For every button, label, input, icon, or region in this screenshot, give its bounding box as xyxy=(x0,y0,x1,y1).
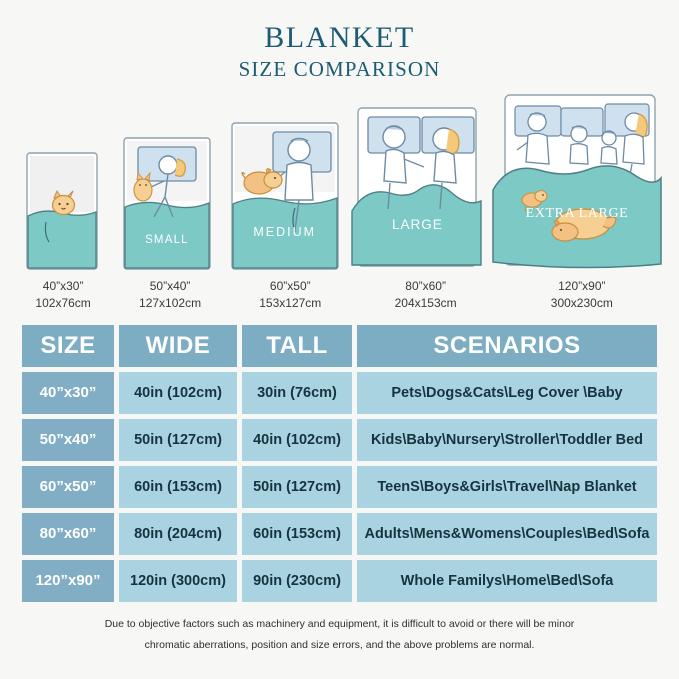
dim-inches-xsmall: 40”x30” xyxy=(12,278,114,294)
cell-wide: 120in (300cm) xyxy=(119,560,237,602)
dimension-caption-small: 50”x40” 127x102cm xyxy=(114,278,226,310)
bed-xlarge: EXTRA LARGE xyxy=(487,92,667,272)
cell-size: 60”x50” xyxy=(22,466,114,508)
illustration-small: SMALL xyxy=(112,135,221,272)
dim-inches-large: 80”x60” xyxy=(355,278,497,294)
cell-wide: 80in (204cm) xyxy=(119,513,237,555)
bed-large: LARGE xyxy=(350,105,484,272)
dim-inches-small: 50”x40” xyxy=(114,278,226,294)
cell-tall: 30in (76cm) xyxy=(242,372,352,414)
table-header-scenarios: SCENARIOS xyxy=(357,325,657,367)
cell-tall: 50in (127cm) xyxy=(242,466,352,508)
bed-small: SMALL xyxy=(121,135,213,272)
cell-tall: 60in (153cm) xyxy=(242,513,352,555)
cell-tall: 90in (230cm) xyxy=(242,560,352,602)
cell-scenarios: Adults\Mens&Womens\Couples\Bed\Sofa xyxy=(357,513,657,555)
cell-wide: 40in (102cm) xyxy=(119,372,237,414)
illustration-xlarge: EXTRA LARGE xyxy=(487,92,667,272)
dim-cm-xlarge: 300x230cm xyxy=(497,295,667,311)
dimension-captions: 40”x30” 102x76cm 50”x40” 127x102cm 60”x5… xyxy=(12,278,667,310)
dim-cm-small: 127x102cm xyxy=(114,295,226,311)
cell-scenarios: TeenS\Boys&Girls\Travel\Nap Blanket xyxy=(357,466,657,508)
title-subtitle: SIZE COMPARISON xyxy=(0,57,679,82)
dimension-caption-xlarge: 120”x90” 300x230cm xyxy=(497,278,667,310)
illustration-xsmall xyxy=(12,150,112,272)
dim-inches-xlarge: 120”x90” xyxy=(497,278,667,294)
table-header-wide: WIDE xyxy=(119,325,237,367)
cell-scenarios: Pets\Dogs&Cats\Leg Cover \Baby xyxy=(357,372,657,414)
size-table: SIZE WIDE TALL SCENARIOS 40”x30” 40in (1… xyxy=(22,325,657,602)
dim-cm-xsmall: 102x76cm xyxy=(12,295,114,311)
infographic-page: BLANKET SIZE COMPARISON xyxy=(0,0,679,679)
page-title: BLANKET SIZE COMPARISON xyxy=(0,0,679,82)
dim-cm-large: 204x153cm xyxy=(355,295,497,311)
cell-size: 120”x90” xyxy=(22,560,114,602)
dim-inches-medium: 60”x50” xyxy=(226,278,355,294)
bed-xsmall xyxy=(24,150,100,272)
disclaimer-line-2: chromatic aberrations, position and size… xyxy=(40,635,639,656)
dimension-caption-medium: 60”x50” 153x127cm xyxy=(226,278,355,310)
illustration-medium: MEDIUM xyxy=(222,120,348,272)
table-row: 40”x30” 40in (102cm) 30in (76cm) Pets\Do… xyxy=(22,372,657,414)
size-illustration-strip: SMALL xyxy=(12,92,667,272)
table-row: 80”x60” 80in (204cm) 60in (153cm) Adults… xyxy=(22,513,657,555)
cell-wide: 60in (153cm) xyxy=(119,466,237,508)
dim-cm-medium: 153x127cm xyxy=(226,295,355,311)
table-row: 120”x90” 120in (300cm) 90in (230cm) Whol… xyxy=(22,560,657,602)
title-main: BLANKET xyxy=(0,22,679,54)
table-header-tall: TALL xyxy=(242,325,352,367)
cell-size: 40”x30” xyxy=(22,372,114,414)
dimension-caption-xsmall: 40”x30” 102x76cm xyxy=(12,278,114,310)
cell-wide: 50in (127cm) xyxy=(119,419,237,461)
disclaimer: Due to objective factors such as machine… xyxy=(40,614,639,656)
dimension-caption-large: 80”x60” 204x153cm xyxy=(355,278,497,310)
table-header-row: SIZE WIDE TALL SCENARIOS xyxy=(22,325,657,367)
cell-size: 50”x40” xyxy=(22,419,114,461)
disclaimer-line-1: Due to objective factors such as machine… xyxy=(40,614,639,635)
cell-scenarios: Kids\Baby\Nursery\Stroller\Toddler Bed xyxy=(357,419,657,461)
table-header-size: SIZE xyxy=(22,325,114,367)
table-row: 50”x40” 50in (127cm) 40in (102cm) Kids\B… xyxy=(22,419,657,461)
cell-tall: 40in (102cm) xyxy=(242,419,352,461)
bed-medium: MEDIUM xyxy=(229,120,341,272)
cell-size: 80”x60” xyxy=(22,513,114,555)
illustration-large: LARGE xyxy=(348,105,487,272)
cell-scenarios: Whole Familys\Home\Bed\Sofa xyxy=(357,560,657,602)
table-row: 60”x50” 60in (153cm) 50in (127cm) TeenS\… xyxy=(22,466,657,508)
